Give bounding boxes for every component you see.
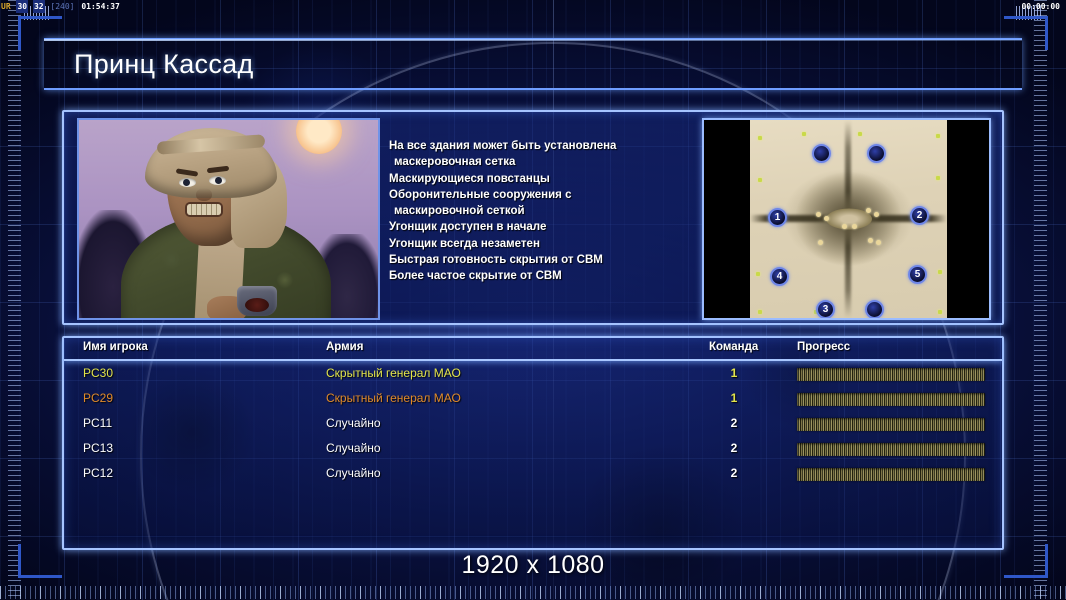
ability-line: Угонщик всегда незаметен (389, 236, 679, 252)
ruler-right (1034, 0, 1047, 600)
portrait-pupil-left (183, 179, 190, 186)
player-list-header: Имя игрока Армия Команда Прогресс (64, 338, 1002, 361)
progress-bar (797, 393, 985, 406)
map-supply-dock (802, 132, 806, 136)
progress-bar (797, 468, 985, 481)
ruler-bottom (0, 586, 1066, 599)
ability-line: Быстрая готовность скрытия от СВМ (389, 252, 679, 268)
portrait-pupil-right (215, 177, 222, 184)
map-oil-derrick (818, 240, 823, 245)
cell-team: 2 (721, 441, 747, 455)
table-row[interactable]: PC12Случайно2 (64, 462, 1002, 487)
status-clock: 01:54:37 (80, 0, 121, 13)
ability-line: маскировочной сеткой (389, 203, 679, 219)
ability-line: Маскирующиеся повстанцы (389, 171, 679, 187)
status-label: UR (0, 0, 12, 13)
map-oil-derrick (816, 212, 821, 217)
ruler-left (8, 0, 21, 600)
ability-line: Оборонительные сооружения с (389, 187, 679, 203)
ability-line: Более частое скрытие от СВМ (389, 268, 679, 284)
cell-player-name: PC11 (83, 416, 112, 430)
table-row[interactable]: PC13Случайно2 (64, 437, 1002, 462)
column-header-name: Имя игрока (83, 341, 148, 353)
map-oil-derrick (874, 212, 879, 217)
cell-team: 2 (721, 416, 747, 430)
progress-bar (797, 368, 985, 381)
portrait-nose (196, 188, 212, 201)
progress-bar (797, 443, 985, 456)
general-ability-list: На все здания может быть установленамаск… (389, 138, 679, 285)
cell-player-name: PC13 (83, 441, 113, 455)
map-supply-dock (758, 136, 762, 140)
cell-team: 1 (721, 366, 747, 380)
cell-army: Скрытный генерал МАО (326, 366, 461, 380)
map-oil-derrick (852, 224, 857, 229)
cell-team: 2 (721, 466, 747, 480)
table-row[interactable]: PC11Случайно2 (64, 412, 1002, 437)
map-start-position[interactable]: 3 (816, 300, 835, 319)
cell-player-name: PC30 (83, 366, 113, 380)
status-bracket: [240] (49, 0, 75, 13)
table-row[interactable]: PC29Скрытный генерал МАО1 (64, 387, 1002, 412)
cell-player-name: PC29 (83, 391, 113, 405)
ability-line: На все здания может быть установлена (389, 138, 679, 154)
cell-army: Случайно (326, 466, 381, 480)
map-supply-dock (758, 178, 762, 182)
status-number-1: 30 (16, 0, 28, 13)
progress-bar (797, 418, 985, 431)
map-oil-derrick (866, 208, 871, 213)
map-start-position[interactable] (812, 144, 831, 163)
ability-line: Угонщик доступен в начале (389, 219, 679, 235)
column-header-army: Армия (326, 341, 363, 353)
cell-army: Случайно (326, 441, 381, 455)
map-supply-dock (938, 310, 942, 314)
general-portrait (77, 118, 380, 320)
map-supply-dock (938, 270, 942, 274)
resolution-overlay: 1920 x 1080 (0, 551, 1066, 580)
cell-army: Случайно (326, 416, 381, 430)
map-supply-dock (936, 176, 940, 180)
cell-army: Скрытный генерал МАО (326, 391, 461, 405)
map-start-position[interactable]: 2 (910, 206, 929, 225)
map-terrain-image: 12453 (750, 120, 947, 318)
map-center-feature (826, 209, 872, 230)
ability-line: маскеровочная сетка (389, 154, 679, 170)
cell-player-name: PC12 (83, 466, 113, 480)
map-start-position[interactable]: 1 (768, 208, 787, 227)
map-preview[interactable]: 12453 (702, 118, 991, 320)
portrait-teeth (187, 204, 221, 215)
column-header-progress: Прогресс (797, 341, 850, 353)
column-header-team: Команда (709, 341, 758, 353)
map-start-position[interactable] (867, 144, 886, 163)
map-supply-dock (936, 134, 940, 138)
table-row[interactable]: PC30Скрытный генерал МАО1 (64, 362, 1002, 387)
map-oil-derrick (824, 216, 829, 221)
map-supply-dock (858, 132, 862, 136)
map-start-position[interactable]: 5 (908, 265, 927, 284)
map-start-position[interactable] (865, 300, 884, 319)
status-bar: UR 30 32 [240] 01:54:37 00:00:00 (0, 0, 1066, 13)
map-supply-dock (758, 310, 762, 314)
page-title: Принц Кассад (74, 49, 254, 80)
status-number-2: 32 (33, 0, 45, 13)
title-band: Принц Кассад (44, 38, 1022, 90)
map-oil-derrick (868, 238, 873, 243)
status-clock-right: 00:00:00 (1021, 0, 1060, 13)
cell-team: 1 (721, 391, 747, 405)
map-oil-derrick (842, 224, 847, 229)
portrait-teapot-liquid (245, 298, 269, 312)
map-supply-dock (756, 272, 760, 276)
player-list-panel: Имя игрока Армия Команда Прогресс PC30Ск… (62, 336, 1004, 550)
general-info-panel: На все здания может быть установленамаск… (62, 110, 1004, 325)
map-start-position[interactable]: 4 (770, 267, 789, 286)
map-oil-derrick (876, 240, 881, 245)
